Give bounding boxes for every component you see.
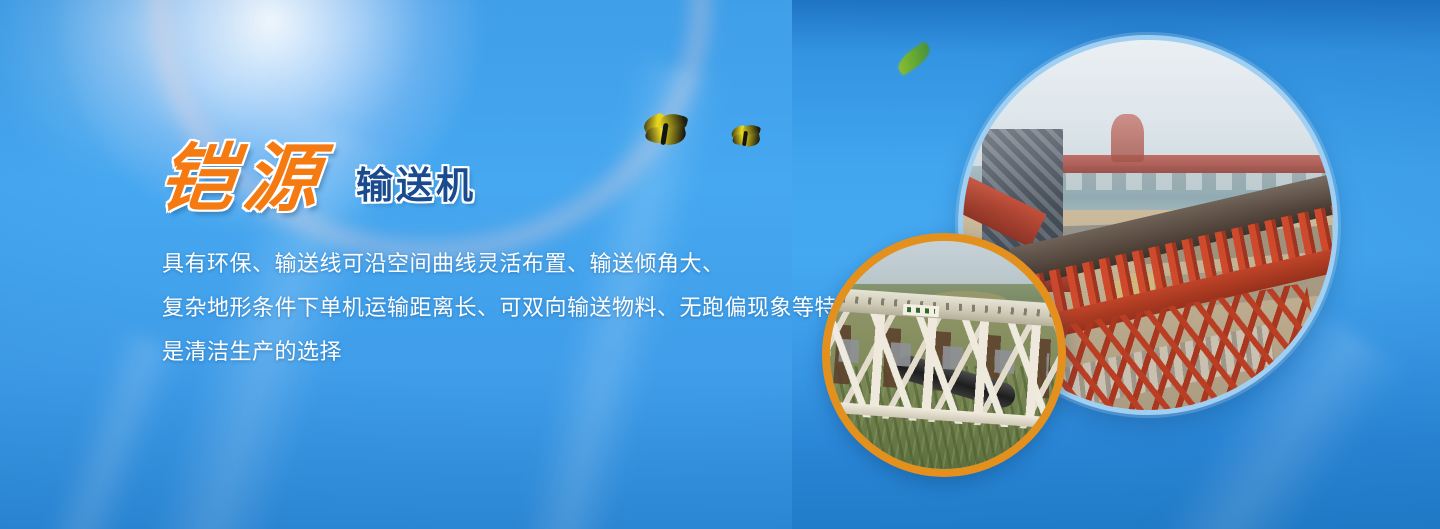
brand-headline: 铠源 输送机 bbox=[160, 142, 476, 216]
brand-product: 输送机 bbox=[356, 167, 476, 204]
butterfly-large-icon bbox=[643, 114, 689, 150]
photo-circle-conveyor-bridge bbox=[822, 233, 1066, 477]
brand-name: 铠源 bbox=[156, 142, 332, 216]
photo-small-conveyor bbox=[830, 241, 1058, 469]
butterfly-small-icon bbox=[731, 125, 761, 149]
promo-banner: 铠源 输送机 具有环保、输送线可沿空间曲线灵活布置、输送倾角大、 复杂地形条件下… bbox=[0, 0, 1440, 529]
photo-sign-plate bbox=[903, 304, 940, 318]
